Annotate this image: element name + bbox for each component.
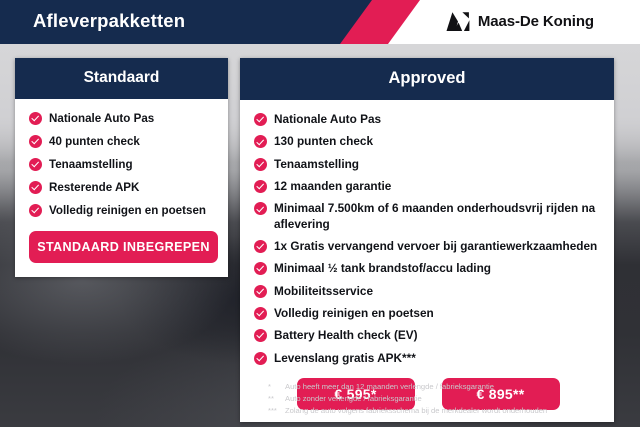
- feature-label: Nationale Auto Pas: [49, 111, 154, 126]
- check-circle-icon: [254, 202, 267, 215]
- package-card-standaard: Standaard Nationale Auto Pas 40 punten c…: [15, 58, 228, 277]
- feature-label: Resterende APK: [49, 180, 139, 195]
- check-circle-icon: [29, 181, 42, 194]
- list-item: Nationale Auto Pas: [254, 112, 602, 127]
- list-item: 130 punten check: [254, 134, 602, 149]
- footnote-block: * Auto heeft meer dan 12 maanden verleng…: [268, 381, 618, 417]
- list-item: Resterende APK: [29, 180, 218, 195]
- card-title-approved: Approved: [240, 58, 614, 100]
- feature-label: 12 maanden garantie: [274, 179, 391, 194]
- footnote-marker: *: [268, 381, 281, 393]
- footnote-text: Auto heeft meer dan 12 maanden verlengde…: [285, 381, 494, 393]
- feature-label: 130 punten check: [274, 134, 373, 149]
- header-bar: Afleverpakketten Maas-De Koning: [0, 0, 640, 44]
- list-item: Volledig reinigen en poetsen: [29, 203, 218, 218]
- feature-label: Tenaamstelling: [274, 157, 359, 172]
- feature-label: Tenaamstelling: [49, 157, 133, 172]
- list-item: 1x Gratis vervangend vervoer bij garanti…: [254, 239, 602, 254]
- check-circle-icon: [254, 329, 267, 342]
- footnote-text: Zolang de auto volgens fabrieksschema bi…: [285, 405, 547, 417]
- standaard-inbegrepen-button[interactable]: STANDAARD INBEGREPEN: [29, 231, 218, 263]
- feature-label: Nationale Auto Pas: [274, 112, 381, 127]
- list-item: Minimaal ½ tank brandstof/accu lading: [254, 261, 602, 276]
- package-card-approved: Approved Nationale Auto Pas 130 punten c…: [240, 58, 614, 422]
- brand-name: Maas-De Koning: [478, 13, 594, 30]
- list-item: Tenaamstelling: [29, 157, 218, 172]
- maas-de-koning-m-mark-icon: [445, 11, 471, 32]
- check-circle-icon: [254, 262, 267, 275]
- check-circle-icon: [254, 113, 267, 126]
- footnote-marker: ***: [268, 405, 281, 417]
- footnote-single-asterisk: * Auto heeft meer dan 12 maanden verleng…: [268, 381, 618, 393]
- check-circle-icon: [254, 158, 267, 171]
- check-circle-icon: [29, 158, 42, 171]
- check-circle-icon: [254, 352, 267, 365]
- card-title-standaard: Standaard: [15, 58, 228, 99]
- list-item: Mobiliteitsservice: [254, 284, 602, 299]
- feature-label: Mobiliteitsservice: [274, 284, 373, 299]
- footnote-triple-asterisk: *** Zolang de auto volgens fabrieksschem…: [268, 405, 618, 417]
- page-title: Afleverpakketten: [33, 10, 185, 32]
- check-circle-icon: [254, 180, 267, 193]
- list-item: Minimaal 7.500km of 6 maanden onderhouds…: [254, 201, 602, 232]
- list-item: Volledig reinigen en poetsen: [254, 306, 602, 321]
- list-item: Levenslang gratis APK***: [254, 351, 602, 366]
- check-circle-icon: [254, 285, 267, 298]
- feature-label: Volledig reinigen en poetsen: [49, 203, 206, 218]
- check-circle-icon: [254, 135, 267, 148]
- feature-label: Battery Health check (EV): [274, 328, 418, 343]
- footnote-double-asterisk: ** Auto zonder verlengde / fabrieksgaran…: [268, 393, 618, 405]
- list-item: Nationale Auto Pas: [29, 111, 218, 126]
- check-circle-icon: [29, 112, 42, 125]
- feature-label: Minimaal 7.500km of 6 maanden onderhouds…: [274, 201, 602, 232]
- check-circle-icon: [29, 135, 42, 148]
- brand-lockup: Maas-De Koning: [445, 11, 594, 32]
- list-item: Tenaamstelling: [254, 157, 602, 172]
- check-circle-icon: [254, 240, 267, 253]
- card-body-approved: Nationale Auto Pas 130 punten check Tena…: [240, 100, 614, 422]
- feature-label: Volledig reinigen en poetsen: [274, 306, 434, 321]
- feature-label: 40 punten check: [49, 134, 140, 149]
- list-item: 40 punten check: [29, 134, 218, 149]
- feature-label: Levenslang gratis APK***: [274, 351, 416, 366]
- promo-slide: Afleverpakketten Maas-De Koning Standaar…: [0, 0, 640, 427]
- feature-list-approved: Nationale Auto Pas 130 punten check Tena…: [254, 112, 602, 366]
- footnote-text: Auto zonder verlengde / fabrieksgarantie: [285, 393, 422, 405]
- list-item: 12 maanden garantie: [254, 179, 602, 194]
- list-item: Battery Health check (EV): [254, 328, 602, 343]
- footnote-marker: **: [268, 393, 281, 405]
- card-body-standaard: Nationale Auto Pas 40 punten check Tenaa…: [15, 99, 228, 277]
- feature-list-standaard: Nationale Auto Pas 40 punten check Tenaa…: [29, 111, 218, 218]
- check-circle-icon: [29, 204, 42, 217]
- check-circle-icon: [254, 307, 267, 320]
- feature-label: Minimaal ½ tank brandstof/accu lading: [274, 261, 491, 276]
- feature-label: 1x Gratis vervangend vervoer bij garanti…: [274, 239, 597, 254]
